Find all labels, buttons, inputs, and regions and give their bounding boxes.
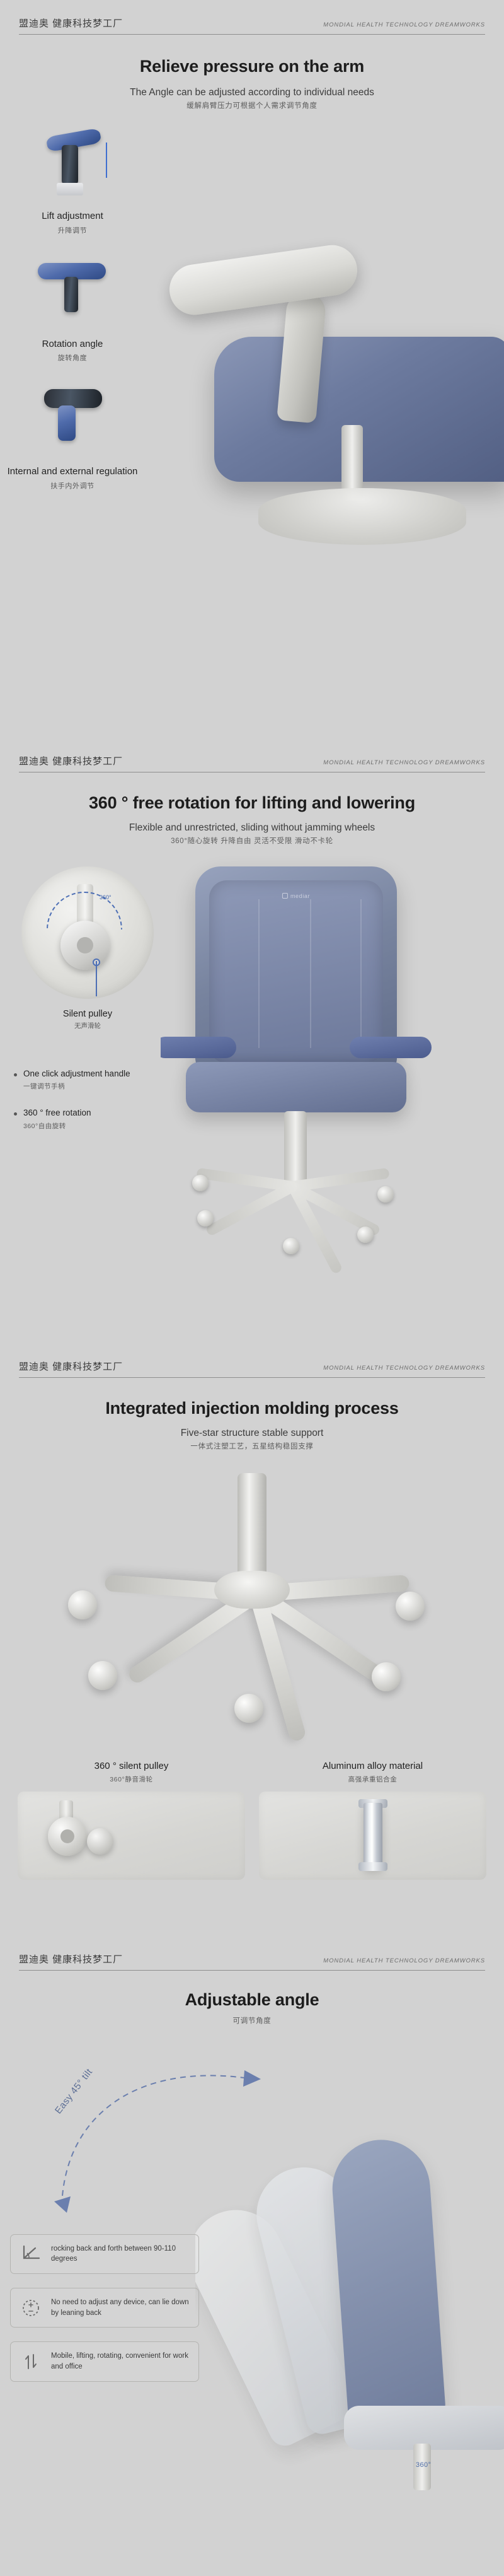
chair-seat [186, 1062, 406, 1112]
armrest-feature-inout: Internal and external regulation 扶手内外调节 [0, 384, 145, 491]
five-star-base-render [0, 1460, 504, 1757]
section-3-subtitle-cn: 一体式注塑工艺，五星结构稳固支撑 [0, 1440, 504, 1454]
rotation-degree-badge: 360° [416, 2461, 431, 2469]
section-free-rotation: 盟迪奥 健康科技梦工厂 MONDIAL HEALTH TECHNOLOGY DR… [0, 738, 504, 1343]
section-2-title: 360 ° free rotation for lifting and lowe… [0, 793, 504, 814]
brand-name-en: MONDIAL HEALTH TECHNOLOGY DREAMWORKS [323, 759, 485, 767]
section-2-bullet-list: One click adjustment handle 一键调节手柄 360 °… [11, 1068, 181, 1147]
section-1-subtitle-cn: 缓解肩臂压力可根据个人需求调节角度 [0, 100, 504, 114]
chair-armrest-left [161, 1037, 236, 1058]
section-arm-pressure: 盟迪奥 健康科技梦工厂 MONDIAL HEALTH TECHNOLOGY DR… [0, 0, 504, 738]
caster-wheel-icon [18, 1792, 245, 1880]
brand-name-cn: 盟迪奥 健康科技梦工厂 [19, 1360, 123, 1373]
chair-upright [329, 2136, 446, 2427]
feature-box-text: rocking back and forth between 90-110 de… [51, 2244, 191, 2264]
feature-box-recline: rocking back and forth between 90-110 de… [10, 2234, 199, 2274]
tilt-arrow-icon [37, 2039, 301, 2228]
brand-header: 盟迪奥 健康科技梦工厂 MONDIAL HEALTH TECHNOLOGY DR… [0, 0, 504, 30]
section-1-subtitle-en: The Angle can be adjusted according to i… [0, 85, 504, 100]
brand-name-en: MONDIAL HEALTH TECHNOLOGY DREAMWORKS [323, 1365, 485, 1373]
chair-logo-text: mediar [290, 893, 310, 899]
silent-pulley-title: Silent pulley [9, 1009, 166, 1019]
armrest-feature-label: Rotation angle [0, 339, 145, 351]
brand-name-en: MONDIAL HEALTH TECHNOLOGY DREAMWORKS [323, 1957, 485, 1966]
callout-leader-line [96, 961, 97, 996]
up-down-arrows-icon [18, 2352, 43, 2371]
card-aluminum-alloy: Aluminum alloy material 高强承重铝合金 [259, 1761, 486, 1880]
section-4-subtitle-cn: 可调节角度 [0, 2015, 504, 2029]
armrest-chair-photo [157, 217, 504, 570]
bullet-text-en: One click adjustment handle [23, 1068, 130, 1080]
brand-name-en: MONDIAL HEALTH TECHNOLOGY DREAMWORKS [323, 21, 485, 30]
section-3-headings: Integrated injection molding process Fiv… [0, 1378, 504, 1454]
page-footer-spacer [0, 2499, 504, 2510]
bullet-dot-icon [14, 1073, 17, 1076]
card-title-cn: 360°静音滑轮 [18, 1775, 245, 1784]
base-gas-column [238, 1473, 266, 1580]
section-3-subtitle-en: Five-star structure stable support [0, 1426, 504, 1440]
section-4-headings: Adjustable angle 可调节角度 [0, 1971, 504, 2029]
armrest-feature-label: Internal and external regulation [0, 466, 145, 478]
bullet-text-cn: 一键调节手柄 [23, 1081, 130, 1091]
bullet-text-en: 360 ° free rotation [23, 1107, 91, 1119]
armrest-lift-icon [25, 129, 120, 204]
pulley-angle-label: 360° [100, 894, 112, 900]
brand-name-cn: 盟迪奥 健康科技梦工厂 [19, 16, 123, 30]
card-title-cn: 高强承重铝合金 [259, 1775, 486, 1784]
section-1-headings: Relieve pressure on the arm The Angle ca… [0, 35, 504, 114]
plus-minus-dial-icon [18, 2299, 43, 2317]
backrest-cushion [209, 880, 383, 1063]
section-2-subtitle-cn: 360°随心旋转 升降自由 灵活不受限 滑动不卡轮 [0, 835, 504, 849]
armrest-feature-rotation: Rotation angle 旋转角度 [0, 257, 145, 363]
card-title: 360 ° silent pulley [18, 1761, 245, 1771]
chair-base-shape [258, 488, 466, 545]
silent-pulley-callout: 360° Silent pulley 无声滑轮 [9, 866, 166, 1030]
bullet-item: One click adjustment handle 一键调节手柄 [11, 1068, 181, 1092]
section-4-body: 360° Easy 45° tilt [0, 2032, 504, 2499]
logo-mark-icon [282, 893, 288, 899]
brand-header: 盟迪奥 健康科技梦工厂 MONDIAL HEALTH TECHNOLOGY DR… [0, 1936, 504, 1966]
pulley-zoom-circle: 360° [21, 866, 154, 999]
feature-box-text: Mobile, lifting, rotating, convenient fo… [51, 2351, 191, 2372]
armrest-feature-label-cn: 旋转角度 [0, 353, 145, 363]
card-title: Aluminum alloy material [259, 1761, 486, 1771]
armrest-pad-shape [166, 242, 360, 318]
feature-box-mobile: Mobile, lifting, rotating, convenient fo… [10, 2341, 199, 2381]
recline-angle-icon [18, 2244, 43, 2263]
feature-box-text: No need to adjust any device, can lie do… [51, 2297, 191, 2318]
armrest-rotate-icon [25, 257, 120, 332]
bullet-text-cn: 360°自由旋转 [23, 1121, 91, 1131]
feature-box-list: rocking back and forth between 90-110 de… [10, 2234, 199, 2396]
brand-header: 盟迪奥 健康科技梦工厂 MONDIAL HEALTH TECHNOLOGY DR… [0, 1343, 504, 1373]
tilt-arc-annotation: Easy 45° tilt [37, 2039, 301, 2228]
section-2-body: mediar [0, 860, 504, 1339]
brand-header: 盟迪奥 健康科技梦工厂 MONDIAL HEALTH TECHNOLOGY DR… [0, 738, 504, 767]
feature-box-no-adjust: No need to adjust any device, can lie do… [10, 2288, 199, 2328]
base-center-hub [214, 1571, 290, 1609]
section-1-title: Relieve pressure on the arm [0, 56, 504, 78]
section-3-title: Integrated injection molding process [0, 1398, 504, 1419]
section-1-body: Lift adjustment 升降调节 Rotation angle 旋转角度 [0, 122, 504, 753]
bullet-item: 360 ° free rotation 360°自由旋转 [11, 1107, 181, 1131]
armrest-feature-label-cn: 扶手内外调节 [0, 481, 145, 491]
brand-name-cn: 盟迪奥 健康科技梦工厂 [19, 754, 123, 767]
section-injection-molding: 盟迪奥 健康科技梦工厂 MONDIAL HEALTH TECHNOLOGY DR… [0, 1343, 504, 1936]
brand-name-cn: 盟迪奥 健康科技梦工厂 [19, 1952, 123, 1966]
chair-armrest-right [350, 1037, 432, 1058]
silent-pulley-title-cn: 无声滑轮 [9, 1021, 166, 1030]
aluminum-column-icon [259, 1792, 486, 1880]
chair-brand-logo: mediar [282, 893, 310, 899]
card-silent-pulley: 360 ° silent pulley 360°静音滑轮 [18, 1761, 245, 1880]
armrest-inout-icon [25, 384, 120, 460]
chair-five-star-base [188, 1172, 406, 1248]
armrest-feature-label-cn: 升降调节 [0, 225, 145, 235]
armrest-feature-list: Lift adjustment 升降调节 Rotation angle 旋转角度 [0, 122, 145, 501]
section-4-title: Adjustable angle [0, 1990, 504, 2011]
section-2-subtitle-en: Flexible and unrestricted, sliding witho… [0, 820, 504, 835]
section-2-headings: 360 ° free rotation for lifting and lowe… [0, 772, 504, 849]
bullet-dot-icon [14, 1112, 17, 1116]
material-cards: 360 ° silent pulley 360°静音滑轮 Aluminum al… [0, 1761, 504, 1880]
section-adjustable-angle: 盟迪奥 健康科技梦工厂 MONDIAL HEALTH TECHNOLOGY DR… [0, 1936, 504, 2503]
office-chair-render: mediar [161, 854, 504, 1333]
product-detail-page: 盟迪奥 健康科技梦工厂 MONDIAL HEALTH TECHNOLOGY DR… [0, 0, 504, 2503]
armrest-feature-lift: Lift adjustment 升降调节 [0, 129, 145, 235]
armrest-feature-label: Lift adjustment [0, 211, 145, 223]
